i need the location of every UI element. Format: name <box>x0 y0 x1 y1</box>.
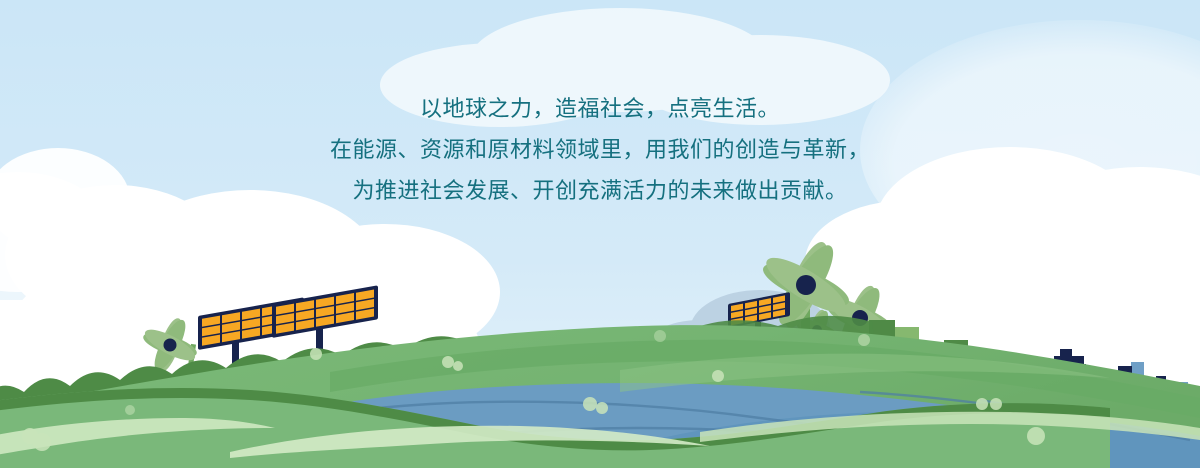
illustration-scene <box>0 0 1200 468</box>
hero-banner: 以地球之力，造福社会，点亮生活。 在能源、资源和原材料领域里，用我们的创造与革新… <box>0 0 1200 468</box>
